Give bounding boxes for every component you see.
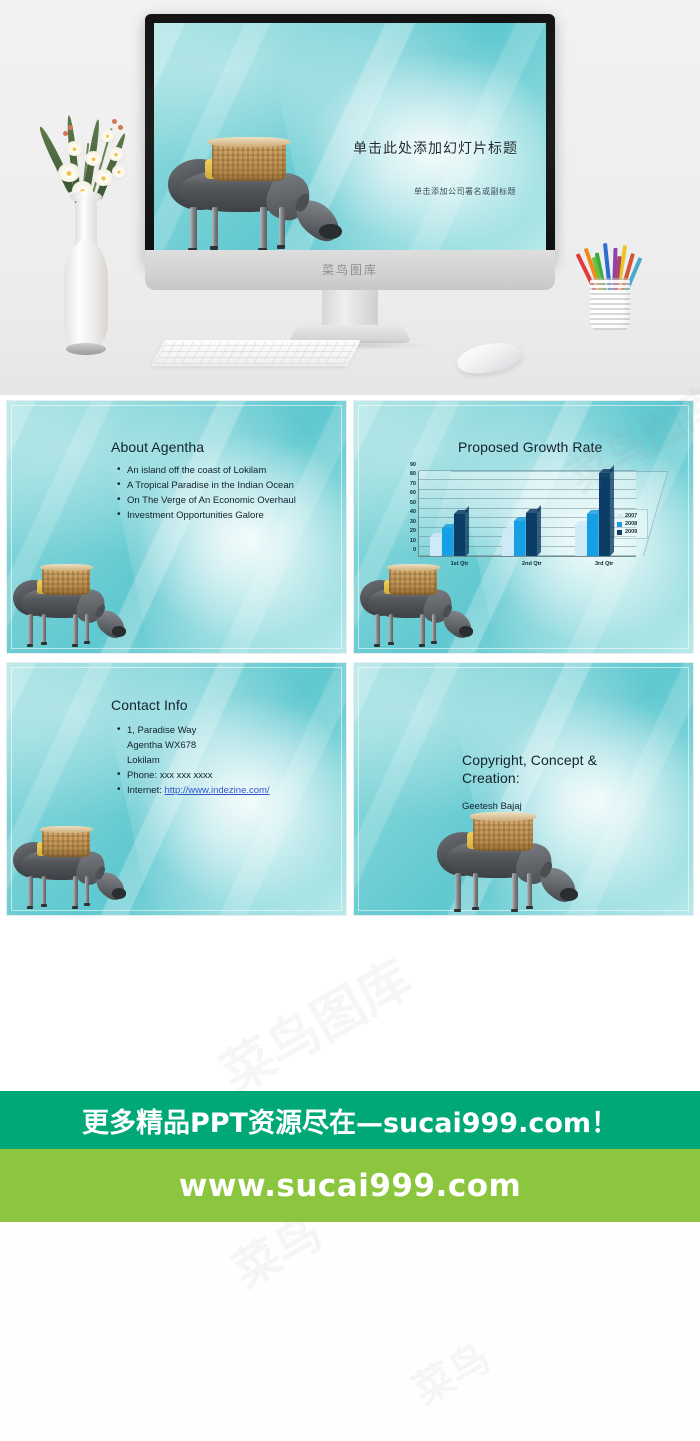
chart-legend-item: 2009	[617, 528, 645, 536]
chart-y-tick: 20	[410, 528, 416, 534]
chart-legend-item: 2008	[617, 520, 645, 528]
slide-thumbnail-about[interactable]: About Agentha An island off the coast of…	[6, 400, 347, 654]
slide-thumbnail-growth[interactable]: Proposed Growth Rate 0102030405060708090…	[353, 400, 694, 654]
keyboard	[151, 340, 361, 366]
list-item: 1, Paradise Way	[115, 723, 345, 738]
chart-bar	[599, 473, 610, 556]
slide-title: About Agentha	[111, 439, 204, 455]
chart-bar	[454, 514, 465, 557]
chart-legend-swatch	[617, 522, 622, 527]
chart-y-tick: 40	[410, 509, 416, 515]
list-item: A Tropical Paradise in the Indian Ocean	[115, 478, 345, 493]
slide-thumbnail-copyright[interactable]: Copyright, Concept & Creation: Geetesh B…	[353, 662, 694, 916]
chart-bar	[514, 521, 525, 556]
chart-y-tick: 60	[410, 490, 416, 496]
list-item: An island off the coast of Lokilam	[115, 463, 345, 478]
indezine-link[interactable]: http://www.indezine.com/	[165, 785, 270, 796]
chart-legend: 200720082009	[614, 509, 648, 539]
donkey-illustration	[434, 809, 584, 913]
footer-spacer: 菜鸟 菜鸟	[0, 1222, 700, 1441]
chart-legend-item: 2007	[617, 512, 645, 520]
chart-y-tick: 30	[410, 519, 416, 525]
screenshot-root: 单击此处添加幻灯片标题 单击添加公司署名或副标题 菜鸟图库	[0, 0, 700, 1441]
chart-y-tick: 90	[410, 462, 416, 468]
donkey-illustration	[164, 133, 349, 253]
donkey-illustration	[11, 561, 131, 647]
chart-y-tick: 70	[410, 481, 416, 487]
chart-bar	[502, 531, 513, 556]
chart-x-tick: 2nd Qtr	[496, 561, 568, 567]
list-item-internet: Internet: http://www.indezine.com/	[115, 783, 345, 798]
chart-plot-area: 01020304050607080901st Qtr2nd Qtr3rd Qtr	[418, 471, 636, 557]
list-item: Investment Opportunities Galore	[115, 508, 345, 523]
growth-bar-chart: 01020304050607080901st Qtr2nd Qtr3rd Qtr…	[394, 467, 644, 579]
promo-banner-secondary-text: www.sucai999.com	[179, 1168, 522, 1204]
flower-vase	[22, 85, 147, 370]
chart-bar	[575, 525, 586, 556]
monitor-brand-label: 菜鸟图库	[145, 261, 555, 278]
slide-title: Proposed Growth Rate	[458, 439, 602, 455]
watermark: 菜鸟	[401, 1326, 499, 1416]
monitor-neck	[322, 290, 378, 328]
list-item: Lokilam	[115, 753, 345, 768]
hero-desk-scene: 单击此处添加幻灯片标题 单击添加公司署名或副标题 菜鸟图库	[0, 0, 700, 395]
chart-legend-swatch	[617, 514, 622, 519]
promo-banner-secondary: www.sucai999.com	[0, 1149, 700, 1222]
chart-bar	[430, 537, 441, 556]
hero-slide-subtitle: 单击添加公司署名或副标题	[414, 186, 516, 197]
list-item: Phone: xxx xxx xxxx	[115, 768, 345, 783]
list-item: On The Verge of An Economic Overhaul	[115, 493, 345, 508]
list-item: Agentha WX678	[115, 738, 345, 753]
donkey-illustration	[11, 823, 131, 909]
chart-legend-label: 2007	[625, 512, 637, 520]
slide-bullet-list: An island off the coast of Lokilam A Tro…	[115, 463, 345, 523]
slide-title: Copyright, Concept & Creation:	[462, 751, 652, 787]
slide-thumbnail-contact[interactable]: Contact Info 1, Paradise Way Agentha WX6…	[6, 662, 347, 916]
watermark: 菜鸟图库	[205, 938, 423, 1107]
hero-slide-title: 单击此处添加幻灯片标题	[353, 138, 518, 158]
chart-bar	[526, 513, 537, 556]
chart-bar	[442, 528, 453, 556]
chart-legend-label: 2008	[625, 520, 637, 528]
internet-label: Internet:	[127, 785, 165, 796]
monitor-screen: 单击此处添加幻灯片标题 单击添加公司署名或副标题	[154, 23, 546, 255]
slide-title: Contact Info	[111, 697, 188, 713]
chart-legend-swatch	[617, 530, 622, 535]
chart-y-tick: 80	[410, 471, 416, 477]
slide-thumbnail-grid: About Agentha An island off the coast of…	[0, 396, 700, 925]
author-name: Geetesh Bajaj	[462, 801, 522, 812]
promo-banner-primary-text: 更多精品PPT资源尽在—sucai999.com！	[82, 1101, 618, 1140]
slide-bullet-list: 1, Paradise Way Agentha WX678 Lokilam Ph…	[115, 723, 345, 798]
desktop-monitor: 单击此处添加幻灯片标题 单击添加公司署名或副标题	[145, 14, 555, 264]
white-spacer: 菜鸟图库	[0, 925, 700, 1091]
monitor-chin: 菜鸟图库	[145, 250, 555, 290]
chart-y-tick: 0	[413, 547, 416, 553]
chart-legend-label: 2009	[625, 528, 637, 536]
chart-y-tick: 10	[410, 538, 416, 544]
promo-banner-primary: 更多精品PPT资源尽在—sucai999.com！	[0, 1091, 700, 1149]
chart-x-tick: 1st Qtr	[423, 561, 495, 567]
chart-y-tick: 50	[410, 500, 416, 506]
chart-bar	[587, 514, 598, 557]
chart-x-tick: 3rd Qtr	[568, 561, 640, 567]
